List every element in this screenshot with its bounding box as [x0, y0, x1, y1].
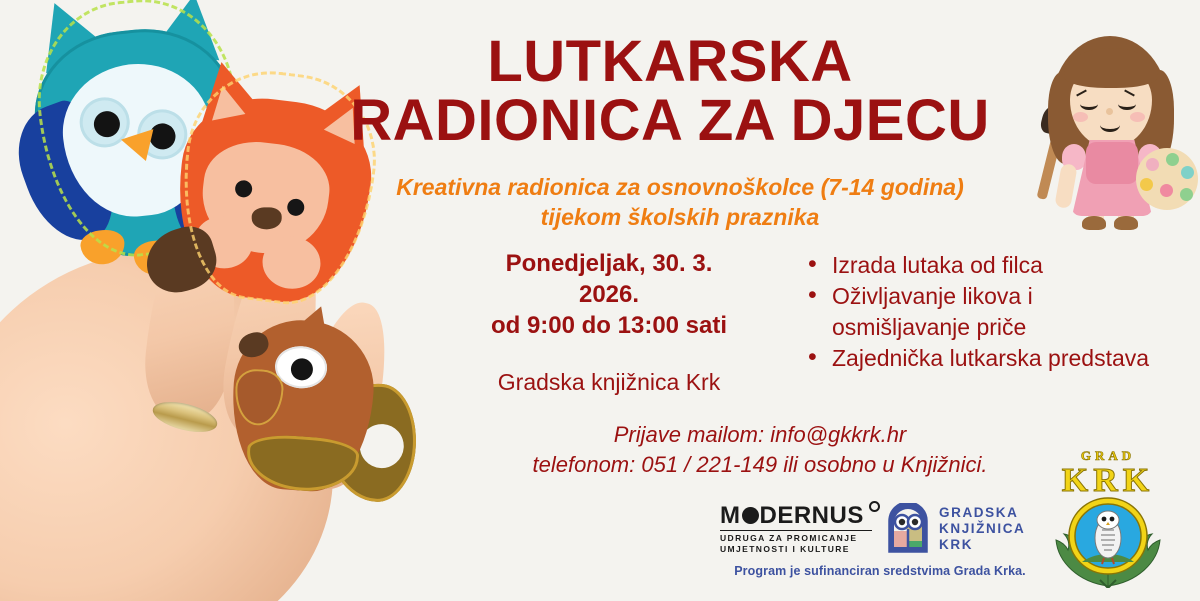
- funding-note: Program je sufinanciran sredstvima Grada…: [700, 564, 1060, 578]
- doll-shoe-left: [1082, 216, 1106, 230]
- palette-dot: [1166, 153, 1179, 166]
- squirrel-belly: [245, 433, 360, 495]
- contact-email-line: Prijave mailom: info@gkkrk.hr: [400, 420, 1120, 450]
- contact-info: Prijave mailom: info@gkkrk.hr telefonom:…: [400, 420, 1120, 480]
- title-line-2: RADIONICA ZA DJECU: [300, 91, 1040, 150]
- logo-row: M DERNUS UDRUGA ZA PROMICANJE UMJETNOSTI…: [720, 498, 1040, 560]
- doll-nose: [1106, 108, 1113, 115]
- palette-dot: [1181, 166, 1194, 179]
- activities-list: Izrada lutaka od filca Oživljavanje liko…: [804, 248, 1174, 397]
- date-line-1: Ponedjeljak, 30. 3.: [430, 248, 788, 279]
- list-item: Zajednička lutkarska predstava: [830, 343, 1174, 374]
- library-line-1: GRADSKA: [939, 505, 1025, 521]
- gradska-knjiznica-logo: GRADSKA KNJIŽNICA KRK: [886, 503, 1025, 555]
- modernus-wordmark: M DERNUS: [720, 504, 872, 528]
- library-wordmark: GRADSKA KNJIŽNICA KRK: [939, 505, 1025, 553]
- list-item: Oživljavanje likova i osmišljavanje prič…: [830, 281, 1174, 343]
- doll-shoe-right: [1114, 216, 1138, 230]
- modernus-name-after: DERNUS: [760, 504, 864, 528]
- palette-dot: [1180, 188, 1193, 201]
- library-owl-icon: [886, 503, 930, 555]
- grad-krk-shield-icon: [1042, 496, 1174, 588]
- grad-krk-main-text: KRK: [1042, 462, 1174, 500]
- event-datetime: Ponedjeljak, 30. 3. 2026. od 9:00 do 13:…: [430, 248, 788, 341]
- poster-canvas: LUTKARSKA RADIONICA ZA DJECU Kreativna r…: [0, 0, 1200, 601]
- list-item: Izrada lutaka od filca: [830, 250, 1174, 281]
- doll-cheek-left: [1073, 112, 1088, 122]
- event-location: Gradska knjižnica Krk: [430, 367, 788, 397]
- page-title: LUTKARSKA RADIONICA ZA DJECU: [300, 32, 1040, 150]
- subtitle-line-2: tijekom školskih praznika: [330, 202, 1030, 232]
- date-line-2: 2026.: [430, 279, 788, 310]
- library-line-3: KRK: [939, 537, 1025, 553]
- time-line: od 9:00 do 13:00 sati: [430, 310, 788, 341]
- grad-krk-coat-of-arms: GRAD KRK: [1042, 444, 1174, 584]
- modernus-o-dot-icon: [742, 507, 759, 524]
- modernus-logo: M DERNUS UDRUGA ZA PROMICANJE UMJETNOSTI…: [720, 504, 872, 555]
- details-columns: Ponedjeljak, 30. 3. 2026. od 9:00 do 13:…: [430, 248, 1190, 397]
- contact-phone-line: telefonom: 051 / 221-149 ili osobno u Kn…: [400, 450, 1120, 480]
- event-details: Ponedjeljak, 30. 3. 2026. od 9:00 do 13:…: [430, 248, 788, 397]
- paint-palette-icon: [1136, 148, 1198, 210]
- subtitle: Kreativna radionica za osnovnoškolce (7-…: [330, 172, 1030, 232]
- doll-eye-right: [1118, 98, 1136, 110]
- palette-dot: [1160, 184, 1173, 197]
- squirrel-puppet-icon: [226, 316, 423, 508]
- doll-eye-left: [1080, 98, 1098, 110]
- modernus-name-before: M: [720, 504, 741, 528]
- doll-mouth: [1100, 118, 1120, 132]
- title-line-1: LUTKARSKA: [300, 32, 1040, 91]
- library-line-2: KNJIŽNICA: [939, 521, 1025, 537]
- registered-mark-icon: [869, 501, 880, 512]
- modernus-tagline-1: UDRUGA ZA PROMICANJE: [720, 530, 872, 544]
- felt-girl-doll-icon: [1026, 26, 1194, 232]
- subtitle-line-1: Kreativna radionica za osnovnoškolce (7-…: [330, 172, 1030, 202]
- doll-arm-left: [1054, 163, 1077, 209]
- palette-dot: [1146, 158, 1159, 171]
- palette-dot: [1140, 178, 1153, 191]
- modernus-tagline-2: UMJETNOSTI I KULTURE: [720, 544, 872, 555]
- doll-cheek-right: [1130, 112, 1145, 122]
- doll-pinafore: [1086, 142, 1138, 184]
